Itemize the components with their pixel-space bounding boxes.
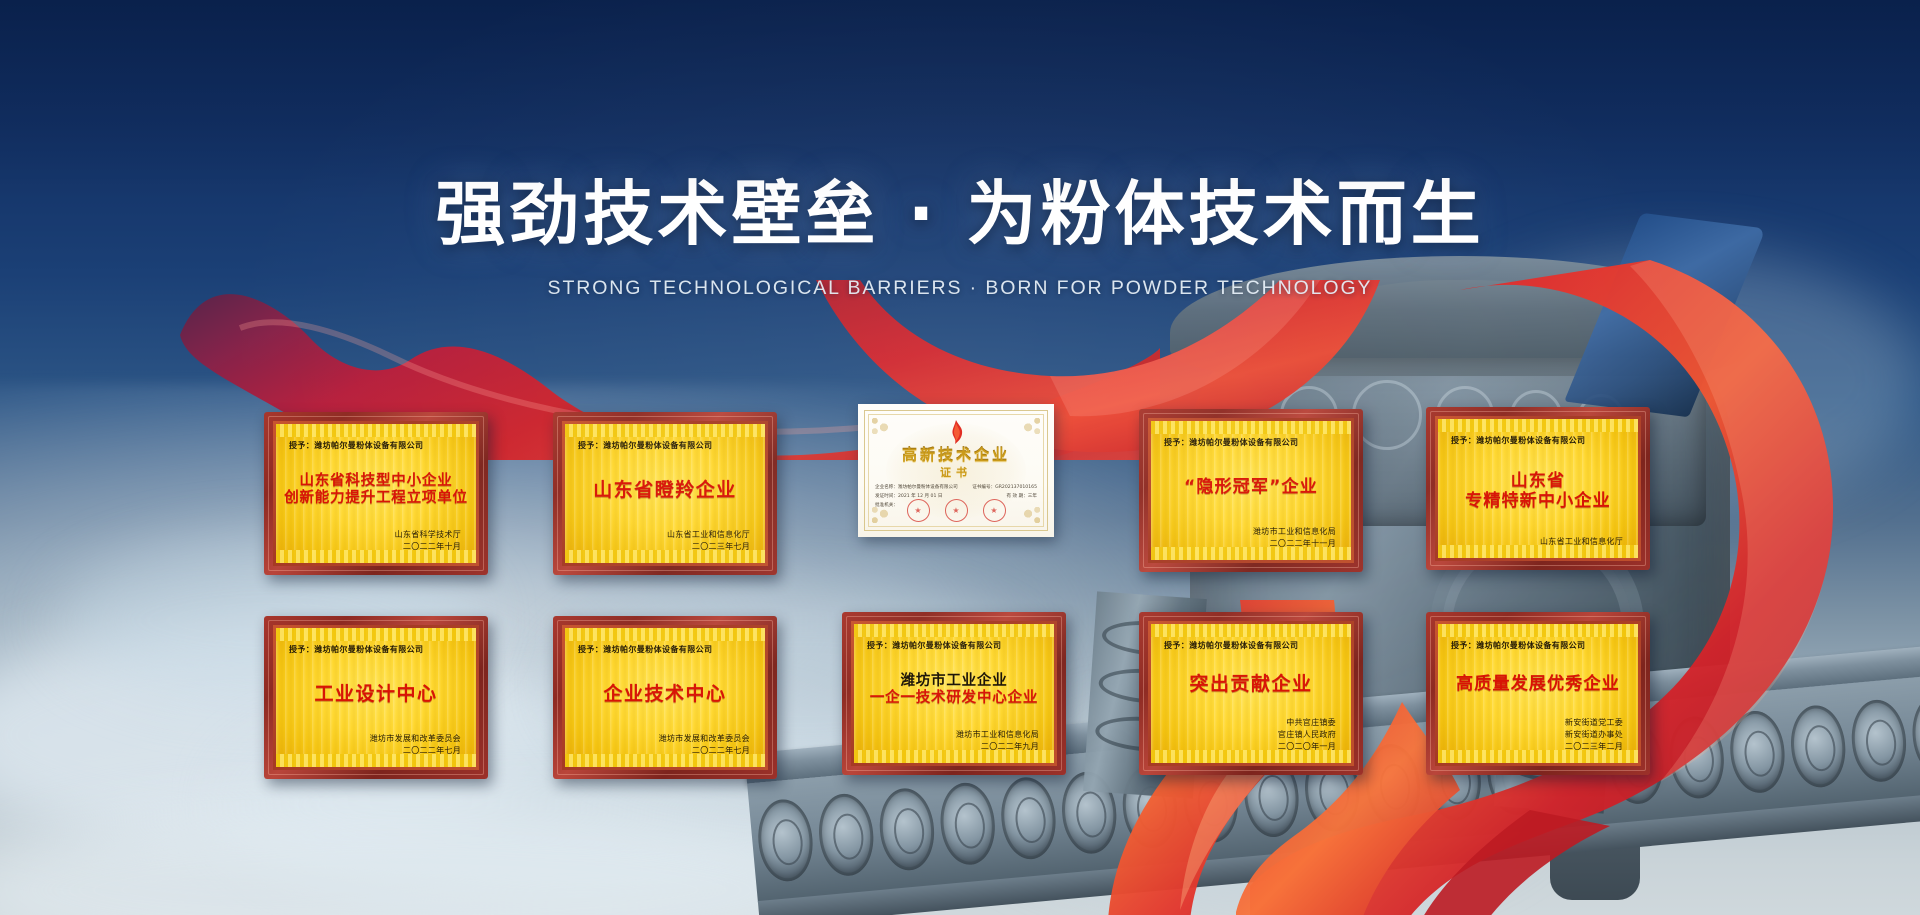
award-title-line: 山东省科技型中小企业	[300, 473, 453, 490]
railing-medallion-icon	[1666, 714, 1727, 801]
award-recipient: 授予：潍坊帕尔曼粉体设备有限公司	[1451, 435, 1625, 446]
railing-medallion-icon	[816, 792, 877, 879]
plaque-silk: 授予：潍坊帕尔曼粉体设备有限公司 突出贡献企业 中共官庄镇委 官庄镇人民政府 二…	[1151, 624, 1351, 763]
award-issuer-block: 山东省科学技术厅 二〇二二年十月	[289, 529, 463, 553]
award-date: 二〇二三年七月	[578, 541, 750, 553]
award-title-line: 潍坊市工业企业	[900, 673, 1007, 690]
award-recipient: 授予：潍坊帕尔曼粉体设备有限公司	[289, 440, 463, 451]
award-issuer: 新安街道党工委	[1451, 717, 1623, 729]
award-issuer-block: 潍坊市发展和改革委员会 二〇二二年七月	[289, 733, 463, 757]
award-issuer-block: 中共官庄镇委 官庄镇人民政府 二〇二〇年一月	[1164, 717, 1338, 753]
plaque-frame: 授予：潍坊帕尔曼粉体设备有限公司 突出贡献企业 中共官庄镇委 官庄镇人民政府 二…	[1139, 612, 1363, 775]
honors-row-bottom: 授予：潍坊帕尔曼粉体设备有限公司 工业设计中心 潍坊市发展和改革委员会 二〇二二…	[264, 616, 1664, 780]
award-date: 二〇二二年七月	[289, 745, 461, 757]
plaque-silk: 授予：潍坊帕尔曼粉体设备有限公司 工业设计中心 潍坊市发展和改革委员会 二〇二二…	[276, 628, 476, 767]
page-subtitle: STRONG TECHNOLOGICAL BARRIERS · BORN FOR…	[0, 277, 1920, 300]
plaque-silk: 授予：潍坊帕尔曼粉体设备有限公司 高质量发展优秀企业 新安街道党工委 新安街道办…	[1438, 624, 1638, 763]
award-title: 山东省科技型中小企业 创新能力提升工程立项单位	[289, 451, 463, 529]
plaque-frame: 授予：潍坊帕尔曼粉体设备有限公司 潍坊市工业企业 一企一技术研发中心企业 潍坊市…	[842, 612, 1066, 775]
award-title: 山东省瞪羚企业	[578, 451, 752, 529]
award-issuer-secondary: 官庄镇人民政府	[1164, 729, 1336, 741]
award-recipient: 授予：潍坊帕尔曼粉体设备有限公司	[867, 640, 1041, 651]
award-plaque[interactable]: 授予：潍坊帕尔曼粉体设备有限公司 “隐形冠军”企业 潍坊市工业和信息化局 二〇二…	[1139, 409, 1363, 572]
plaque-silk: 授予：潍坊帕尔曼粉体设备有限公司 “隐形冠军”企业 潍坊市工业和信息化局 二〇二…	[1151, 421, 1351, 560]
plaque-frame: 授予：潍坊帕尔曼粉体设备有限公司 高质量发展优秀企业 新安街道党工委 新安街道办…	[1426, 612, 1650, 775]
award-issuer: 山东省科学技术厅	[289, 529, 461, 541]
award-recipient: 授予：潍坊帕尔曼粉体设备有限公司	[578, 644, 752, 655]
award-title-line: 山东省瞪羚企业	[593, 479, 737, 501]
railing-medallion-icon	[998, 775, 1059, 862]
award-issuer-block: 潍坊市发展和改革委员会 二〇二二年七月	[578, 733, 752, 757]
certificate-field-row: 企业名称：潍坊帕尔曼粉体设备有限公司 证书编号：GR202137010165	[875, 484, 1037, 493]
award-issuer: 潍坊市工业和信息化局	[867, 729, 1039, 741]
award-plaque[interactable]: 授予：潍坊帕尔曼粉体设备有限公司 潍坊市工业企业 一企一技术研发中心企业 潍坊市…	[842, 612, 1066, 775]
award-issuer: 潍坊市发展和改革委员会	[578, 733, 750, 745]
award-title: 工业设计中心	[289, 655, 463, 733]
award-title-line: 企业技术中心	[603, 683, 726, 705]
award-title: 山东省 专精特新中小企业	[1451, 446, 1625, 536]
certificate-title: 高新技术企业	[858, 444, 1054, 465]
railing-medallion-icon	[1727, 709, 1788, 796]
award-date: 二〇二〇年一月	[1164, 741, 1336, 753]
award-plaque[interactable]: 授予：潍坊帕尔曼粉体设备有限公司 工业设计中心 潍坊市发展和改革委员会 二〇二二…	[264, 616, 488, 779]
award-recipient: 授予：潍坊帕尔曼粉体设备有限公司	[578, 440, 752, 451]
award-issuer: 山东省工业和信息化厅	[578, 529, 750, 541]
plaque-silk: 授予：潍坊帕尔曼粉体设备有限公司 潍坊市工业企业 一企一技术研发中心企业 潍坊市…	[854, 624, 1054, 763]
award-issuer-block: 潍坊市工业和信息化局 二〇二二年十一月	[1164, 526, 1338, 550]
award-plaque[interactable]: 授予：潍坊帕尔曼粉体设备有限公司 企业技术中心 潍坊市发展和改革委员会 二〇二二…	[553, 616, 777, 779]
award-issuer: 潍坊市工业和信息化局	[1164, 526, 1336, 538]
award-recipient: 授予：潍坊帕尔曼粉体设备有限公司	[289, 644, 463, 655]
plaque-silk: 授予：潍坊帕尔曼粉体设备有限公司 山东省 专精特新中小企业 山东省工业和信息化厅	[1438, 419, 1638, 558]
award-date: 二〇二二年九月	[867, 741, 1039, 753]
award-title: 潍坊市工业企业 一企一技术研发中心企业	[867, 651, 1041, 729]
railing-medallion-icon	[1909, 692, 1920, 779]
certificate-corner-ornament-icon	[867, 413, 893, 439]
award-title-line: “隐形冠军”企业	[1184, 477, 1318, 497]
certificate-field-name: 企业名称：潍坊帕尔曼粉体设备有限公司	[875, 484, 958, 493]
award-recipient: 授予：潍坊帕尔曼粉体设备有限公司	[1164, 437, 1338, 448]
award-issuer: 山东省工业和信息化厅	[1451, 536, 1623, 548]
plaque-frame: 授予：潍坊帕尔曼粉体设备有限公司 “隐形冠军”企业 潍坊市工业和信息化局 二〇二…	[1139, 409, 1363, 572]
award-recipient: 授予：潍坊帕尔曼粉体设备有限公司	[1164, 640, 1338, 651]
high-tech-enterprise-certificate[interactable]: 高新技术企业 证书 企业名称：潍坊帕尔曼粉体设备有限公司 证书编号：GR2021…	[858, 404, 1054, 537]
award-issuer-block: 山东省工业和信息化厅 二〇二三年七月	[578, 529, 752, 553]
railing-medallion-icon	[876, 786, 937, 873]
plaque-frame: 授予：潍坊帕尔曼粉体设备有限公司 企业技术中心 潍坊市发展和改革委员会 二〇二二…	[553, 616, 777, 779]
award-recipient: 授予：潍坊帕尔曼粉体设备有限公司	[1451, 640, 1625, 651]
award-plaque[interactable]: 授予：潍坊帕尔曼粉体设备有限公司 山东省科技型中小企业 创新能力提升工程立项单位…	[264, 412, 488, 575]
plaque-silk: 授予：潍坊帕尔曼粉体设备有限公司 企业技术中心 潍坊市发展和改革委员会 二〇二二…	[565, 628, 765, 767]
award-title: 企业技术中心	[578, 655, 752, 733]
award-plaque[interactable]: 授予：潍坊帕尔曼粉体设备有限公司 山东省瞪羚企业 山东省工业和信息化厅 二〇二三…	[553, 412, 777, 575]
award-title: “隐形冠军”企业	[1164, 448, 1338, 526]
plaque-silk: 授予：潍坊帕尔曼粉体设备有限公司 山东省科技型中小企业 创新能力提升工程立项单位…	[276, 424, 476, 563]
plaque-silk: 授予：潍坊帕尔曼粉体设备有限公司 山东省瞪羚企业 山东省工业和信息化厅 二〇二三…	[565, 424, 765, 563]
award-title-line: 创新能力提升工程立项单位	[284, 490, 468, 507]
award-issuer: 潍坊市发展和改革委员会	[289, 733, 461, 745]
award-title-line: 山东省	[1511, 471, 1566, 491]
certificate-corner-ornament-icon	[1019, 413, 1045, 439]
plaque-frame: 授予：潍坊帕尔曼粉体设备有限公司 工业设计中心 潍坊市发展和改革委员会 二〇二二…	[264, 616, 488, 779]
award-title: 高质量发展优秀企业	[1451, 651, 1625, 717]
award-title: 突出贡献企业	[1164, 651, 1338, 717]
award-issuer: 中共官庄镇委	[1164, 717, 1336, 729]
banner-stage: 强劲技术壁垒 · 为粉体技术而生 STRONG TECHNOLOGICAL BA…	[0, 0, 1920, 915]
award-title-line: 一企一技术研发中心企业	[870, 690, 1038, 707]
railing-medallion-icon	[937, 780, 998, 867]
award-plaque[interactable]: 授予：潍坊帕尔曼粉体设备有限公司 高质量发展优秀企业 新安街道党工委 新安街道办…	[1426, 612, 1650, 775]
award-plaque[interactable]: 授予：潍坊帕尔曼粉体设备有限公司 山东省 专精特新中小企业 山东省工业和信息化厅	[1426, 407, 1650, 570]
honors-row-top: 授予：潍坊帕尔曼粉体设备有限公司 山东省科技型中小企业 创新能力提升工程立项单位…	[264, 412, 1664, 576]
certificate-subtitle: 证书	[858, 464, 1054, 480]
certificate-field-number: 证书编号：GR202137010165	[972, 484, 1037, 493]
award-plaque[interactable]: 授予：潍坊帕尔曼粉体设备有限公司 突出贡献企业 中共官庄镇委 官庄镇人民政府 二…	[1139, 612, 1363, 775]
page-title: 强劲技术壁垒 · 为粉体技术而生	[0, 158, 1920, 259]
certificate-seals	[858, 499, 1054, 522]
official-seal-icon	[945, 499, 968, 522]
award-title-line: 突出贡献企业	[1189, 673, 1312, 695]
plaque-frame: 授予：潍坊帕尔曼粉体设备有限公司 山东省科技型中小企业 创新能力提升工程立项单位…	[264, 412, 488, 575]
award-title-line: 工业设计中心	[314, 683, 437, 705]
award-date: 二〇二二年十一月	[1164, 538, 1336, 550]
award-issuer-secondary: 新安街道办事处	[1451, 729, 1623, 741]
award-issuer-block: 山东省工业和信息化厅	[1451, 536, 1625, 548]
official-seal-icon	[907, 499, 930, 522]
railing-medallion-icon	[755, 797, 816, 884]
plaque-frame: 授予：潍坊帕尔曼粉体设备有限公司 山东省瞪羚企业 山东省工业和信息化厅 二〇二三…	[553, 412, 777, 575]
award-date: 二〇二二年七月	[578, 745, 750, 757]
railing-medallion-icon	[1788, 703, 1849, 790]
award-title-line: 专精特新中小企业	[1465, 491, 1611, 511]
award-date: 二〇二二年十月	[289, 541, 461, 553]
official-seal-icon	[983, 499, 1006, 522]
plaque-frame: 授予：潍坊帕尔曼粉体设备有限公司 山东省 专精特新中小企业 山东省工业和信息化厅	[1426, 407, 1650, 570]
award-issuer-block: 潍坊市工业和信息化局 二〇二二年九月	[867, 729, 1041, 753]
railing-medallion-icon	[1848, 698, 1909, 785]
flame-emblem-icon	[947, 420, 965, 444]
award-issuer-block: 新安街道党工委 新安街道办事处 二〇二三年二月	[1451, 717, 1625, 753]
award-title-line: 高质量发展优秀企业	[1456, 674, 1620, 694]
award-date: 二〇二三年二月	[1451, 741, 1623, 753]
